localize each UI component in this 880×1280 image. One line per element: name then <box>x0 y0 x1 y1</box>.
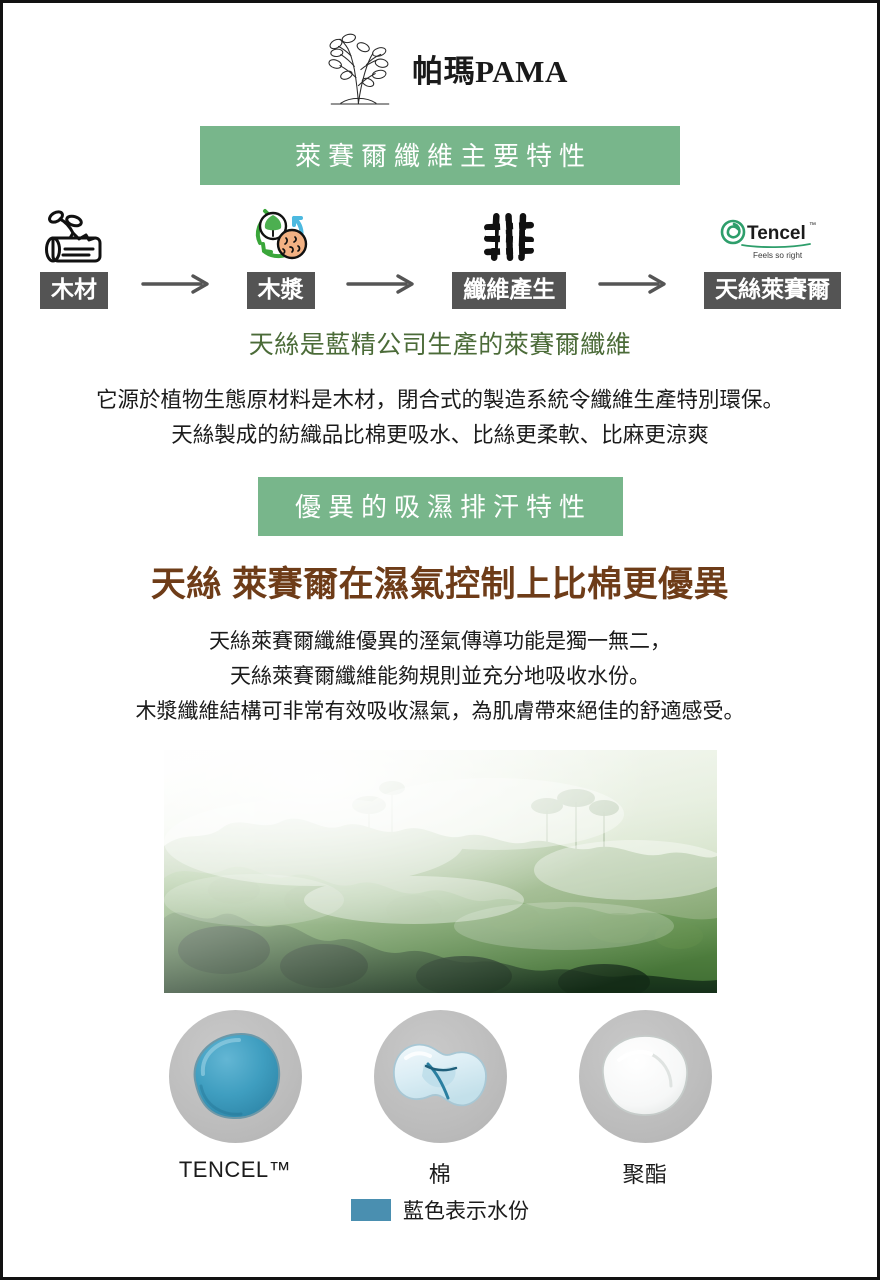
paragraph-line: 木漿纖維結構可非常有效吸收濕氣，為肌膚帶來絕佳的舒適感受。 <box>136 695 745 730</box>
flow-label-tencel: 天絲萊賽爾 <box>704 272 841 309</box>
fiber-label-polyester: 聚酯 <box>622 1157 667 1189</box>
infographic-page: 帕瑪PAMA 萊賽爾纖維主要特性 <box>0 0 880 1280</box>
tencel-logo-icon: Tencel ™ Feels so right <box>720 203 824 265</box>
svg-text:Feels so right: Feels so right <box>753 251 803 260</box>
process-flow: 木材 <box>25 203 855 309</box>
brand-logo: 帕瑪PAMA <box>312 29 568 107</box>
paragraph-line: 天絲萊賽爾纖維能夠規則並充分地吸收水份。 <box>136 660 745 695</box>
cotton-fiber-cross-section <box>374 1010 507 1143</box>
paragraph-line: 它源於植物生態原材料是木材，閉合式的製造系統令纖維生產特別環保。 <box>96 383 784 418</box>
paragraph-line: 天絲製成的紡織品比棉更吸水、比絲更柔軟、比麻更涼爽 <box>96 418 784 453</box>
fiber-label-cotton: 棉 <box>429 1157 452 1189</box>
right-arrow-icon <box>346 272 420 296</box>
svg-text:Tencel: Tencel <box>747 223 806 244</box>
svg-text:™: ™ <box>809 222 816 229</box>
flow-label-wood: 木材 <box>40 272 108 309</box>
flow-label-fiber: 纖維產生 <box>452 272 566 309</box>
tree-line-art-icon <box>312 29 408 107</box>
banner-primary-title: 萊賽爾纖維主要特性 <box>200 126 680 185</box>
tencel-fiber-cross-section <box>169 1010 302 1143</box>
wood-log-icon <box>39 203 109 265</box>
green-highlight-line: 天絲是藍精公司生產的萊賽爾纖維 <box>249 325 632 361</box>
legend-label: 藍色表示水份 <box>403 1195 529 1225</box>
flow-step-wood: 木材 <box>39 203 109 309</box>
flow-step-fiber: 纖維產生 <box>452 203 566 309</box>
fiber-label-tencel: TENCEL™ <box>179 1157 291 1183</box>
legend-color-swatch <box>351 1199 391 1221</box>
recycling-pulp-icon <box>250 203 312 265</box>
woven-fiber-icon <box>480 203 538 265</box>
section-two-paragraph: 天絲萊賽爾纖維優異的溼氣傳導功能是獨一無二， 天絲萊賽爾纖維能夠規則並充分地吸收… <box>136 625 745 730</box>
right-arrow-icon <box>141 272 215 296</box>
fiber-item-tencel: TENCEL™ <box>149 1010 321 1189</box>
flow-step-tencel: Tencel ™ Feels so right 天絲萊賽爾 <box>704 203 841 309</box>
fiber-item-polyester: 聚酯 <box>559 1010 731 1189</box>
moisture-legend: 藍色表示水份 <box>351 1195 529 1225</box>
banner-secondary-title: 優異的吸濕排汗特性 <box>258 477 623 536</box>
brand-name: 帕瑪PAMA <box>412 46 568 107</box>
flow-label-pulp: 木漿 <box>247 272 315 309</box>
section-two-headline: 天絲 萊賽爾在濕氣控制上比棉更優異 <box>151 556 729 607</box>
fiber-item-cotton: 棉 <box>354 1010 526 1189</box>
section-one-paragraph: 它源於植物生態原材料是木材，閉合式的製造系統令纖維生產特別環保。 天絲製成的紡織… <box>96 383 784 453</box>
polyester-fiber-cross-section <box>579 1010 712 1143</box>
paragraph-line: 天絲萊賽爾纖維優異的溼氣傳導功能是獨一無二， <box>136 625 745 660</box>
flow-step-pulp: 木漿 <box>247 203 315 309</box>
right-arrow-icon <box>598 272 672 296</box>
misty-rainforest-canopy-photo <box>164 750 717 993</box>
fiber-comparison-row: TENCEL™ <box>145 1010 735 1189</box>
